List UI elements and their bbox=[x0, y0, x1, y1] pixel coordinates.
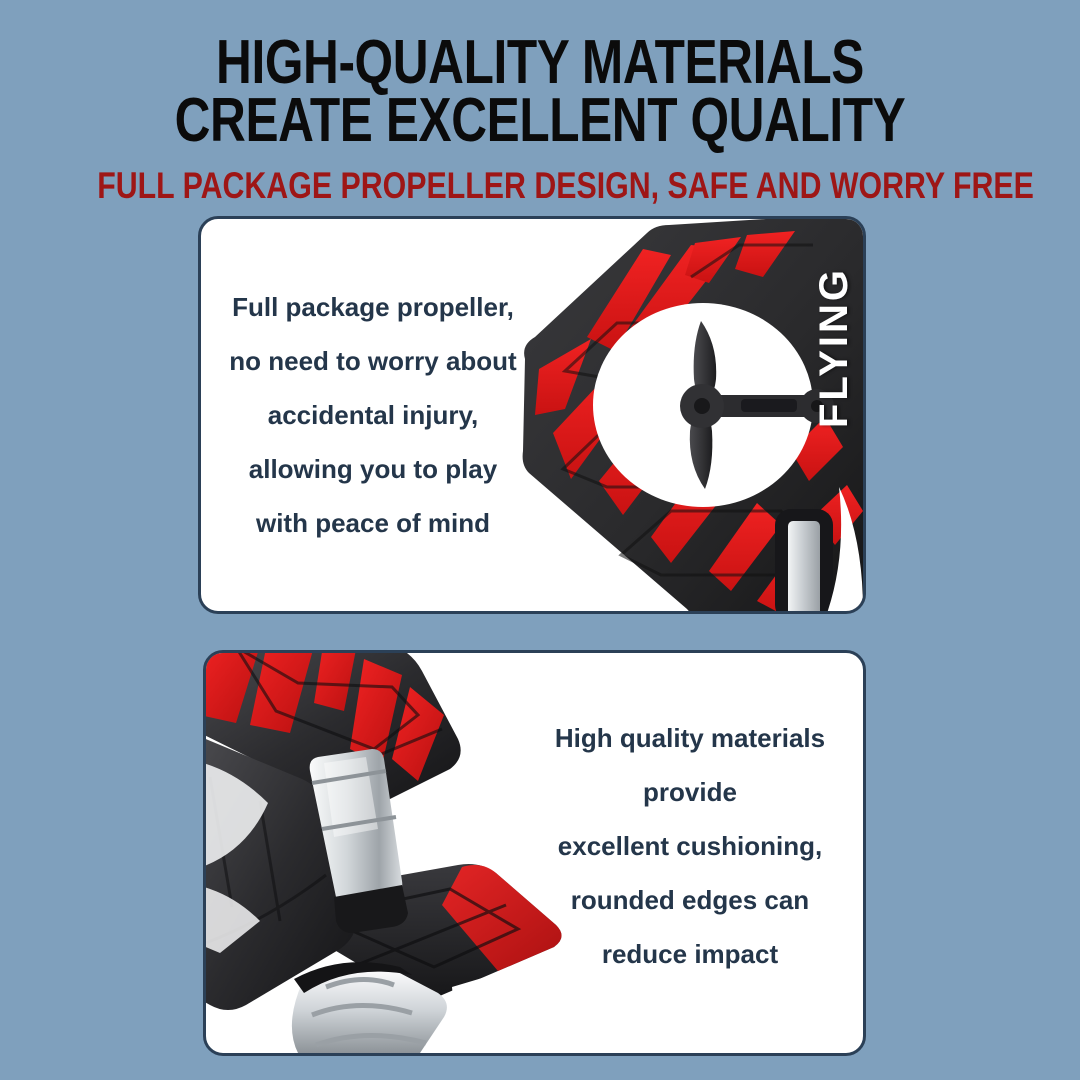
copy-line: Full package propeller, bbox=[213, 280, 533, 334]
chrome-strut bbox=[775, 509, 833, 611]
support-bar-groove bbox=[741, 399, 797, 412]
copy-line: no need to worry about bbox=[213, 334, 533, 388]
headline-line-1: HIGH-QUALITY MATERIALS bbox=[108, 34, 972, 92]
copy-line: reduce impact bbox=[525, 927, 855, 981]
copy-line: with peace of mind bbox=[213, 496, 533, 550]
propeller-product-image: FLYING bbox=[495, 219, 863, 611]
product-brand-label: FLYING bbox=[812, 267, 857, 428]
copy-line: provide bbox=[525, 765, 855, 819]
headline-line-2: CREATE EXCELLENT QUALITY bbox=[108, 92, 972, 150]
copy-line: excellent cushioning, bbox=[525, 819, 855, 873]
landing-gear-product-image bbox=[206, 653, 566, 1053]
copy-line: accidental injury, bbox=[213, 388, 533, 442]
strut-metal bbox=[788, 521, 820, 611]
propeller-card-copy: Full package propeller, no need to worry… bbox=[213, 219, 533, 611]
drone-guard-illustration bbox=[495, 219, 863, 611]
cushioning-card-copy: High quality materials provide excellent… bbox=[525, 653, 855, 1053]
page-subtitle: FULL PACKAGE PROPELLER DESIGN, SAFE AND … bbox=[97, 167, 983, 204]
copy-line: rounded edges can bbox=[525, 873, 855, 927]
page-title: HIGH-QUALITY MATERIALS CREATE EXCELLENT … bbox=[108, 34, 972, 149]
propeller-card: Full package propeller, no need to worry… bbox=[198, 216, 866, 614]
landing-gear-illustration bbox=[206, 653, 566, 1053]
cushioning-card: High quality materials provide excellent… bbox=[203, 650, 866, 1056]
propeller-hub-screw bbox=[694, 398, 710, 414]
copy-line: allowing you to play bbox=[213, 442, 533, 496]
header-block: HIGH-QUALITY MATERIALS CREATE EXCELLENT … bbox=[0, 0, 1080, 204]
copy-line: High quality materials bbox=[525, 711, 855, 765]
